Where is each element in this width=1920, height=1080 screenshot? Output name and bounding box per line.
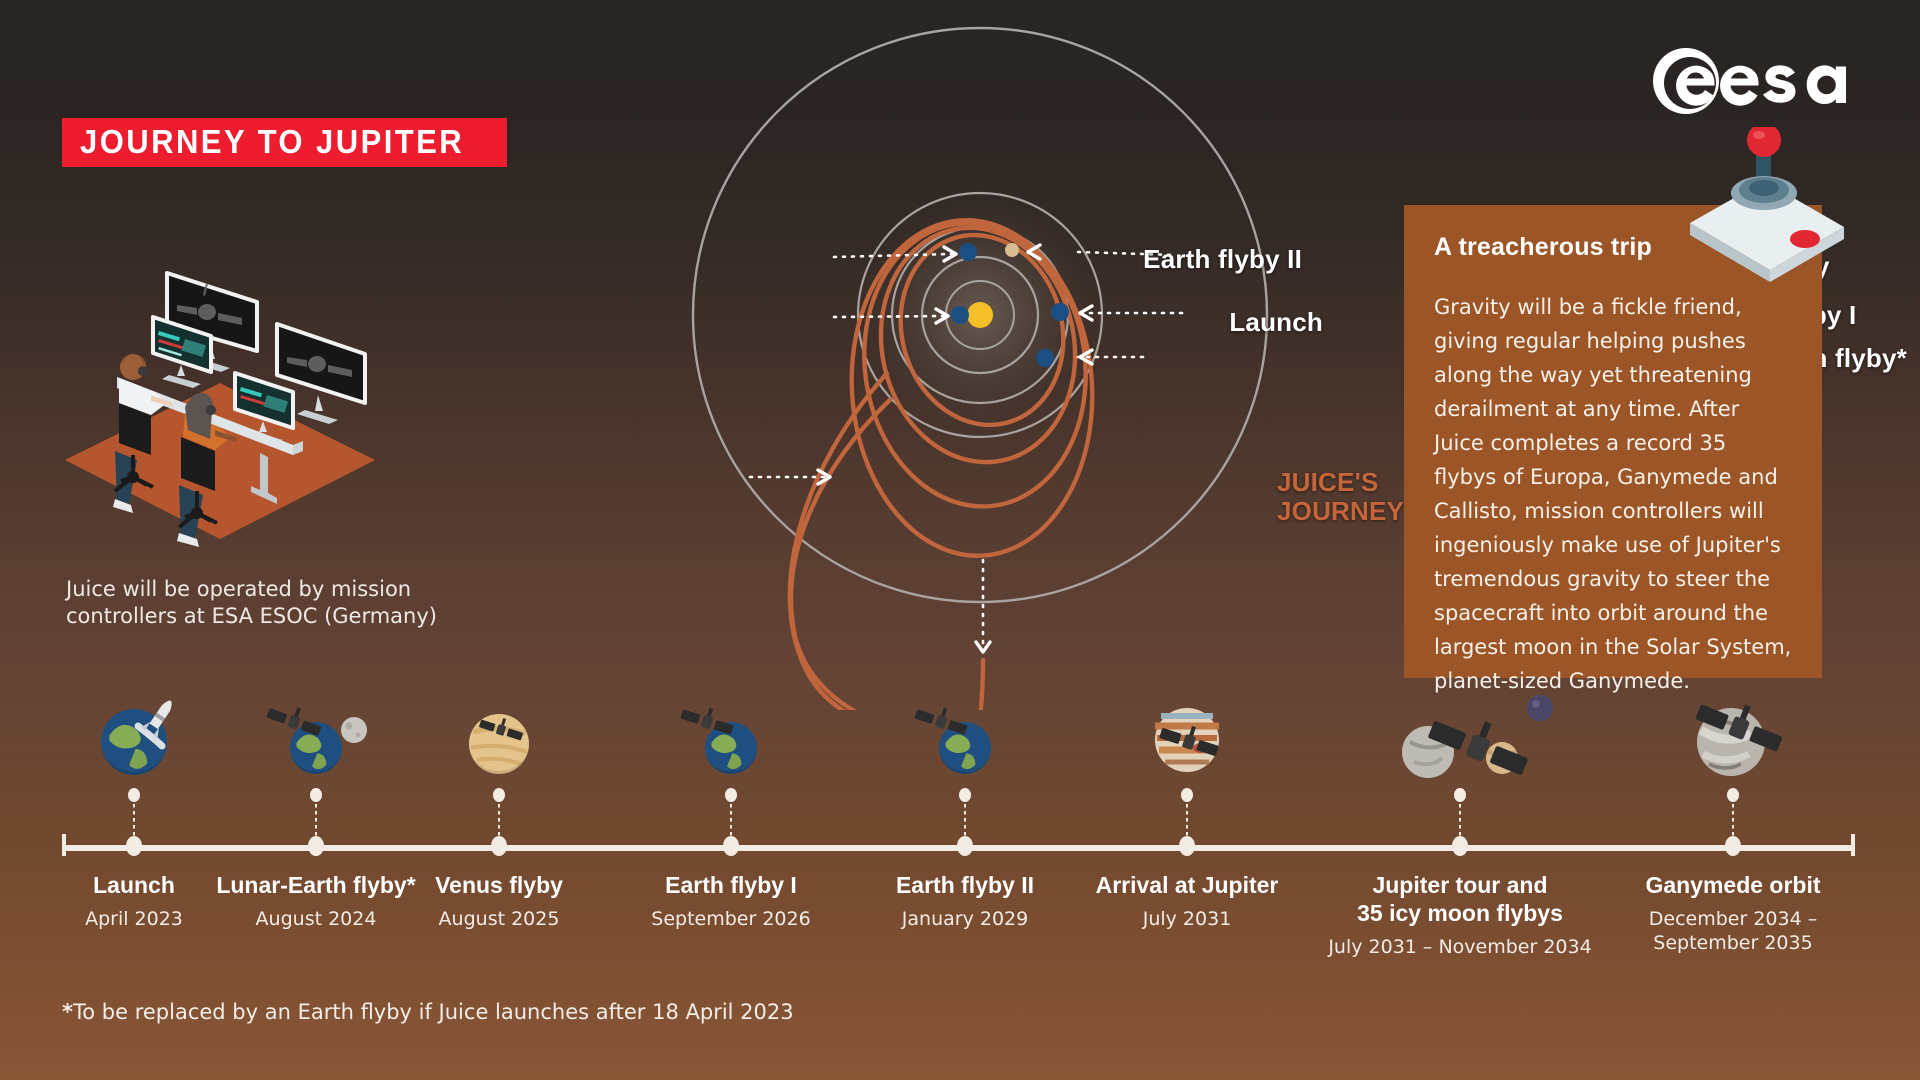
earth-flyby-1-marker <box>1051 303 1069 321</box>
timeline-item-title: Ganymede orbit <box>1583 872 1883 900</box>
timeline-axis-node[interactable] <box>308 836 324 856</box>
mission-control-caption-line2: controllers at ESA ESOC (Germany) <box>66 603 466 630</box>
infographic-root: JOURNEY TO JUPITER <box>0 0 1920 1080</box>
timeline-axis-cap-right <box>1851 834 1855 856</box>
timeline-marker-dot <box>493 788 505 802</box>
info-panel-body: Gravity will be a fickle friend, giving … <box>1434 290 1792 698</box>
mission-control-caption: Juice will be operated by mission contro… <box>66 576 466 630</box>
timeline-axis-node[interactable] <box>1452 836 1468 856</box>
joystick-icon <box>1672 127 1862 287</box>
timeline-marker-dot <box>1727 788 1739 802</box>
venus-flyby-marker <box>1005 243 1019 257</box>
ganymede-spacecraft-icon <box>1583 690 1883 780</box>
timeline-axis-node[interactable] <box>1725 836 1741 856</box>
timeline-marker-dot <box>725 788 737 802</box>
timeline-item-title: Jupiter tour and35 icy moon flybys <box>1310 872 1610 927</box>
timeline-connector <box>133 804 135 838</box>
timeline-axis-node[interactable] <box>491 836 507 856</box>
sun-icon <box>967 302 993 328</box>
timeline-axis-cap-left <box>62 834 66 856</box>
timeline-marker-dot <box>959 788 971 802</box>
timeline-connector <box>498 804 500 838</box>
footnote-text: To be replaced by an Earth flyby if Juic… <box>73 1000 794 1024</box>
timeline-item-date: July 2031 – November 2034 <box>1310 936 1610 960</box>
earth-flyby-2-marker <box>959 243 977 261</box>
esa-logo <box>1650 45 1850 117</box>
orbit-diagram: Earth flyby II Launch Venus flyby Earth … <box>600 0 1320 710</box>
orbit-label-launch: Launch <box>1229 307 1323 338</box>
timeline-item-title: Arrival at Jupiter <box>1037 872 1337 900</box>
juices-journey-line2: JOURNEY <box>1277 497 1404 526</box>
orbit-label-juices-journey: JUICE'S JOURNEY <box>1277 468 1404 526</box>
timeline-axis-node[interactable] <box>126 836 142 856</box>
jupiter-spacecraft-icon <box>1037 690 1337 780</box>
lunar-earth-flyby-marker <box>1036 349 1054 367</box>
orbit-label-earth-flyby-2: Earth flyby II <box>1143 244 1302 275</box>
timeline-marker-dot <box>1454 788 1466 802</box>
page-title: JOURNEY TO JUPITER <box>62 118 507 167</box>
icy-moons-spacecraft-icon <box>1310 690 1610 780</box>
footnote-asterisk: * <box>62 1000 73 1024</box>
page-title-text: JOURNEY TO JUPITER <box>80 125 464 158</box>
info-panel: A treacherous trip Gravity will be a fic… <box>1404 205 1822 678</box>
footnote: *To be replaced by an Earth flyby if Jui… <box>62 1000 794 1024</box>
timeline-connector <box>730 804 732 838</box>
timeline-connector <box>1186 804 1188 838</box>
timeline-connector <box>315 804 317 838</box>
mission-control-illustration <box>55 255 385 565</box>
timeline-axis-node[interactable] <box>1179 836 1195 856</box>
timeline-connector <box>964 804 966 838</box>
timeline-marker-dot <box>310 788 322 802</box>
timeline-marker-dot <box>1181 788 1193 802</box>
juices-journey-line1: JUICE'S <box>1277 468 1404 497</box>
timeline-marker-dot <box>128 788 140 802</box>
timeline-axis-node[interactable] <box>957 836 973 856</box>
timeline-connector <box>1732 804 1734 838</box>
timeline: LaunchApril 2023Lunar-Earth flyby*August… <box>0 690 1920 1020</box>
timeline-item-date: July 2031 <box>1037 908 1337 932</box>
mission-control-caption-line1: Juice will be operated by mission <box>66 576 466 603</box>
timeline-axis-node[interactable] <box>723 836 739 856</box>
timeline-item-date: December 2034 –September 2035 <box>1583 908 1883 956</box>
launch-marker <box>951 306 969 324</box>
timeline-connector <box>1459 804 1461 838</box>
